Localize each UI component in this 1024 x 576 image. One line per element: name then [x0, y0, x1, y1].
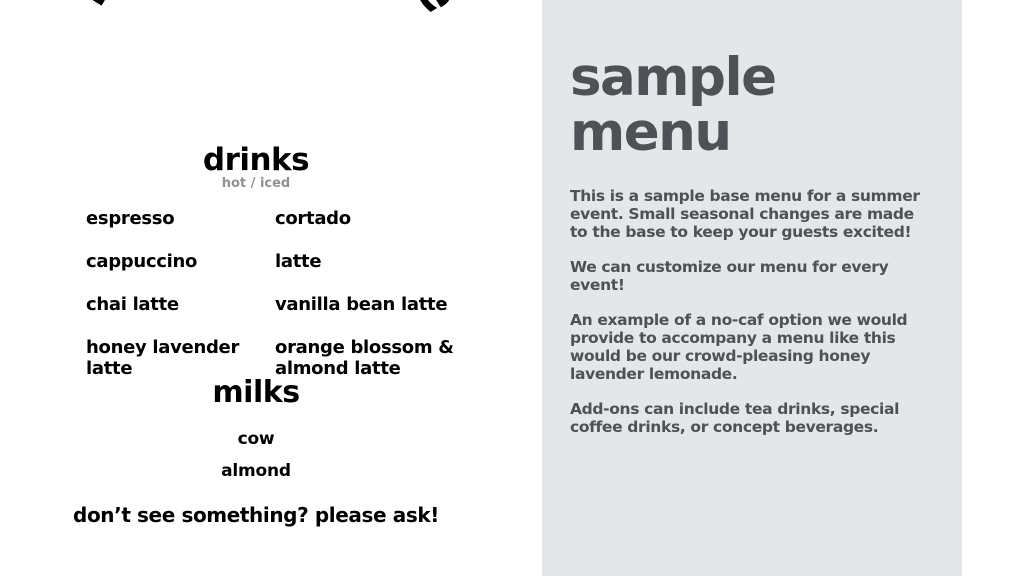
milk-item: cow: [0, 423, 512, 455]
drink-item: cappuccino: [86, 251, 275, 294]
menu-slide: flipside coffee drinks hot / iced espres…: [0, 0, 1024, 576]
sample-menu-info-panel: sample menu This is a sample base menu f…: [542, 0, 962, 576]
ask-note: don’t see something? please ask!: [0, 503, 512, 527]
brand-letter: e: [402, 0, 471, 22]
drink-item: espresso: [86, 208, 275, 251]
drinks-heading: drinks: [0, 142, 512, 178]
drinks-list: espresso cortado cappuccino latte chai l…: [86, 208, 486, 390]
milks-list: cow almond: [0, 423, 512, 487]
drink-item: chai latte: [86, 294, 275, 337]
drink-item: cortado: [275, 208, 486, 251]
description-paragraph: An example of a no-caf option we would p…: [570, 311, 936, 383]
description-paragraph: This is a sample base menu for a summer …: [570, 187, 936, 241]
drinks-subheading: hot / iced: [0, 176, 512, 191]
sample-menu-title: sample menu: [570, 0, 936, 160]
description-blocks: This is a sample base menu for a summer …: [570, 187, 936, 436]
menu-left-panel: flipside coffee drinks hot / iced espres…: [0, 0, 542, 576]
milks-heading: milks: [0, 375, 512, 410]
milk-item: almond: [0, 455, 512, 487]
brand-letter: f: [58, 0, 119, 16]
description-paragraph: Add-ons can include tea drinks, special …: [570, 400, 936, 436]
drink-item: vanilla bean latte: [275, 294, 486, 337]
drink-item: latte: [275, 251, 486, 294]
description-paragraph: We can customize our menu for every even…: [570, 258, 936, 294]
